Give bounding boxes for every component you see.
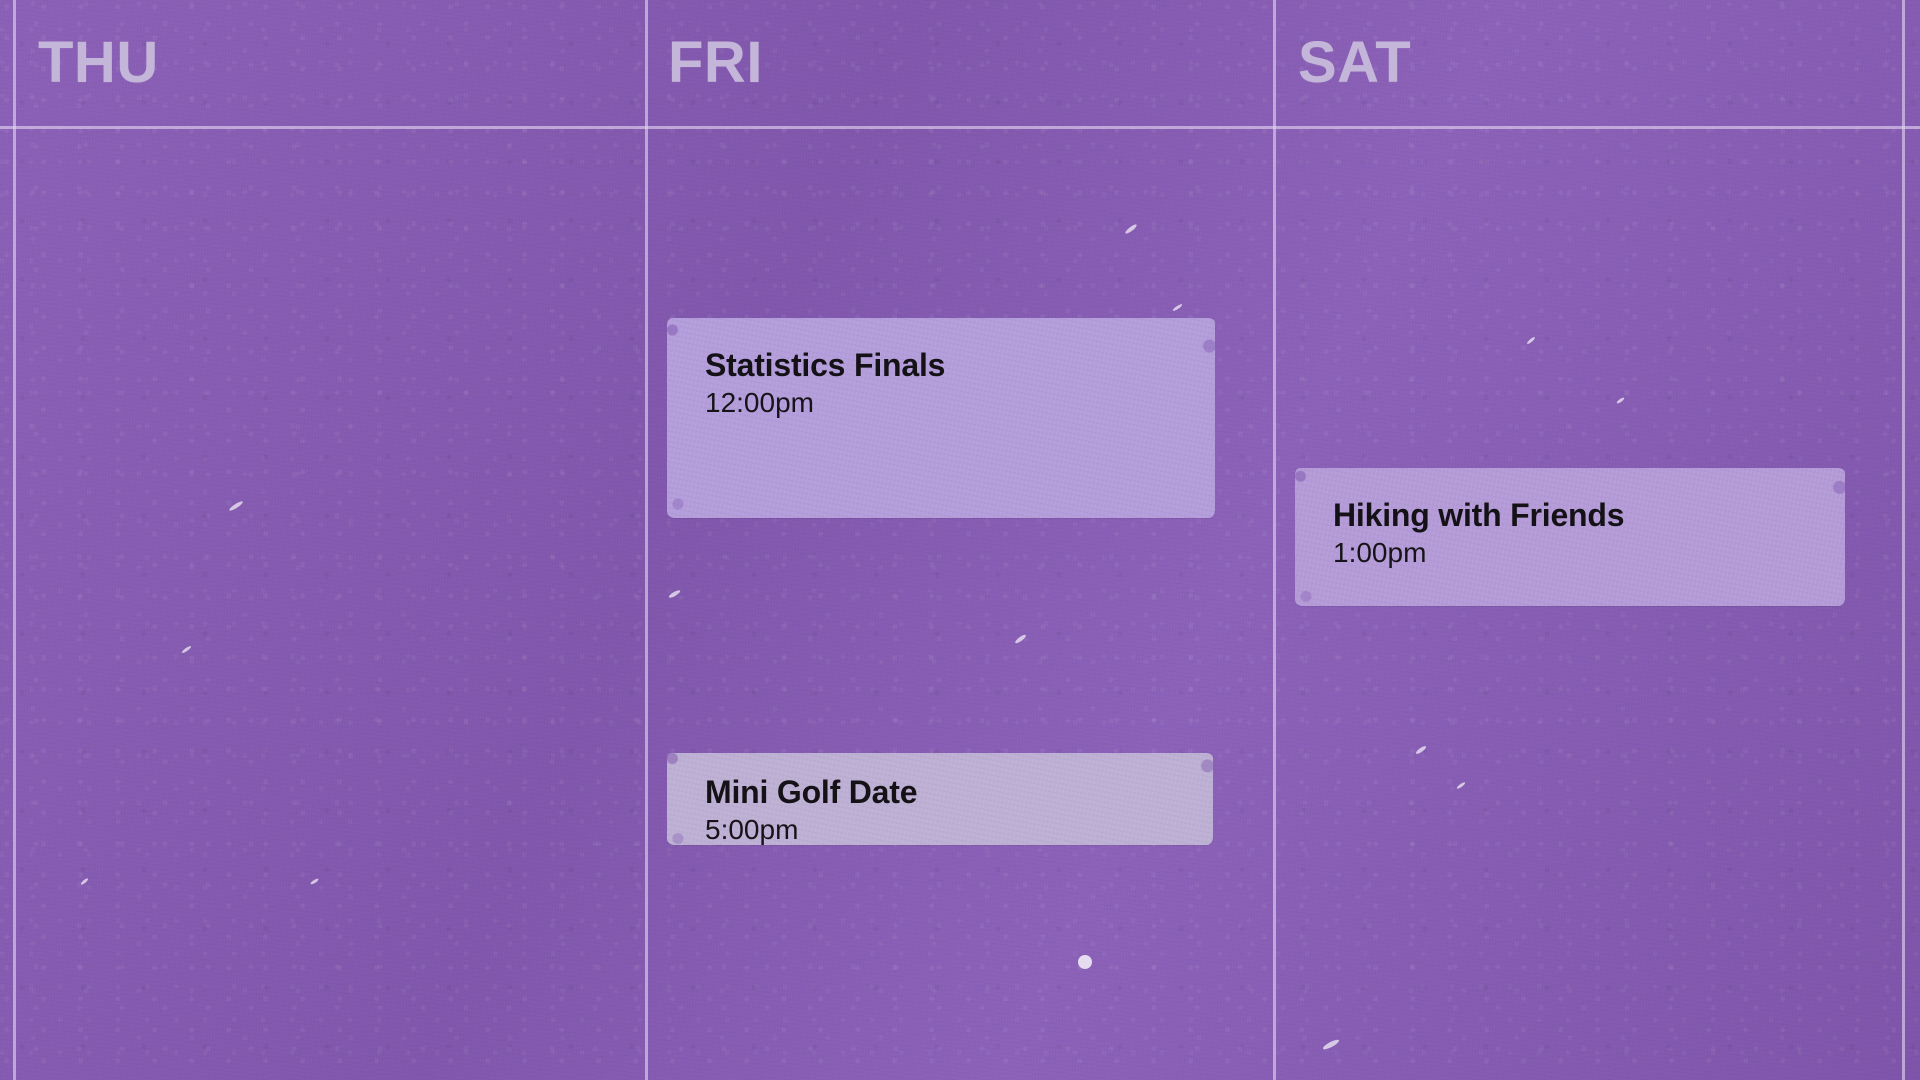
event-title: Hiking with Friends [1333,498,1845,533]
event-time: 5:00pm [705,815,1213,845]
event-title: Statistics Finals [705,348,1215,383]
dust-fleck [1526,336,1536,345]
dust-fleck [1456,781,1466,789]
dust-fleck [1014,633,1027,644]
column-divider-right [1902,0,1905,1080]
column-divider-thu-fri [645,0,648,1080]
day-header-thu[interactable]: THU [38,34,159,92]
dust-fleck [181,645,192,654]
column-divider-left [13,0,16,1080]
event-card[interactable]: Mini Golf Date 5:00pm [667,753,1213,845]
event-card[interactable]: Statistics Finals 12:00pm [667,318,1215,518]
dust-fleck [1616,397,1625,405]
day-header-sat[interactable]: SAT [1298,34,1411,92]
dust-fleck [1322,1038,1340,1051]
dust-fleck [228,500,244,512]
event-time: 12:00pm [705,388,1215,419]
event-title: Mini Golf Date [705,775,1213,810]
dust-fleck [1124,223,1137,235]
calendar-week-view: THU FRI SAT Statistics Finals 12:00pm Mi… [0,0,1920,1080]
event-card[interactable]: Hiking with Friends 1:00pm [1295,468,1845,606]
dust-fleck [1078,955,1092,969]
dust-fleck [310,878,319,885]
header-rule [0,126,1920,129]
event-time: 1:00pm [1333,538,1845,569]
column-divider-fri-sat [1273,0,1276,1080]
day-header-fri[interactable]: FRI [668,34,763,92]
dust-fleck [1172,303,1183,312]
dust-fleck [668,589,681,599]
dust-fleck [80,877,89,885]
dust-fleck [1415,745,1427,755]
